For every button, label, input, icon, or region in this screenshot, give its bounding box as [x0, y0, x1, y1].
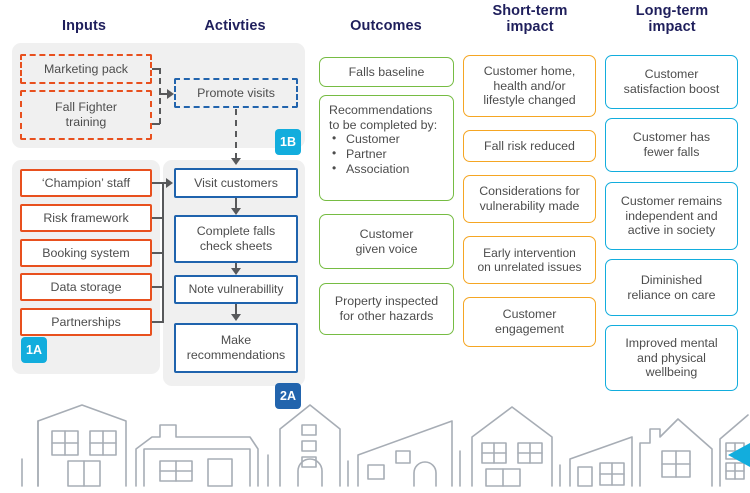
input-booking-system-label: Booking system — [42, 246, 129, 261]
activity-make-recommendations-label-line2: recommendations — [187, 348, 285, 363]
input-risk-framework-label: Risk framework — [43, 211, 128, 226]
activity-note-vulnerability[interactable]: Note vulnerabillity — [174, 275, 298, 304]
long-term-item-0-line1: Customer — [645, 67, 699, 82]
short-term-item-1-line1: Fall risk reduced — [484, 139, 575, 154]
column-header-activities: Activties — [163, 18, 307, 34]
input-data-storage-label: Data storage — [51, 280, 122, 295]
outcome-recommendations-completed-by[interactable]: Recommendations to be completed by: Cust… — [319, 95, 454, 201]
short-term-customer-engagement[interactable]: Customer engagement — [463, 297, 596, 347]
outcome-property-inspected-label-line2: for other hazards — [340, 309, 434, 324]
long-term-item-2-line1: Customer remains — [621, 194, 722, 209]
outcome-property-inspected[interactable]: Property inspected for other hazards — [319, 283, 454, 335]
outcome-property-inspected-label-line1: Property inspected — [335, 294, 438, 309]
input-fall-fighter-training[interactable]: Fall Fighter training — [20, 90, 152, 140]
long-term-item-1-line2: fewer falls — [644, 145, 700, 160]
outcome-falls-baseline[interactable]: Falls baseline — [319, 57, 454, 87]
input-risk-framework[interactable]: Risk framework — [20, 204, 152, 232]
long-term-customer-satisfaction-boost[interactable]: Customer satisfaction boost — [605, 55, 738, 109]
activity-complete-falls-check-sheets[interactable]: Complete falls check sheets — [174, 215, 298, 263]
input-partnerships-label: Partnerships — [51, 315, 121, 330]
arrowhead-complete-to-note — [231, 268, 241, 275]
activity-visit-customers-label: Visit customers — [194, 176, 278, 191]
short-term-item-4-line1: Customer — [503, 307, 557, 322]
logic-model-diagram: Inputs Activties Outcomes Short-term imp… — [0, 0, 750, 493]
outcome-falls-baseline-label: Falls baseline — [349, 65, 425, 80]
long-term-customer-remains-independent[interactable]: Customer remains independent and active … — [605, 182, 738, 250]
badge-1b-label: 1B — [280, 135, 296, 149]
long-term-item-0-line2: satisfaction boost — [624, 82, 720, 97]
activity-promote-visits[interactable]: Promote visits — [174, 78, 298, 108]
connector-inputs-vertical-bus — [162, 182, 164, 323]
long-term-customer-fewer-falls[interactable]: Customer has fewer falls — [605, 118, 738, 172]
column-header-inputs: Inputs — [12, 18, 156, 34]
long-term-item-2-line2: independent and — [625, 209, 717, 224]
connector-dashed-vertical-bus — [159, 68, 161, 124]
outcome-customer-given-voice[interactable]: Customer given voice — [319, 214, 454, 269]
long-term-item-4-line2: and physical — [637, 351, 706, 366]
long-term-item-3-line1: Diminished — [641, 273, 702, 288]
long-term-item-2-line3: active in society — [628, 223, 715, 238]
short-term-header-line1: Short-term — [460, 3, 600, 19]
short-term-early-intervention[interactable]: Early intervention on unrelated issues — [463, 236, 596, 284]
short-term-fall-risk-reduced[interactable]: Fall risk reduced — [463, 130, 596, 162]
outcome-customer-given-voice-label-line2: given voice — [356, 242, 418, 257]
arrowhead-promote-to-visit — [231, 158, 241, 165]
long-term-diminished-reliance-on-care[interactable]: Diminished reliance on care — [605, 259, 738, 316]
input-champion-staff[interactable]: ‘Champion’ staff — [20, 169, 152, 197]
arrowhead-to-promote-visits — [167, 89, 174, 99]
badge-1a-label: 1A — [26, 343, 42, 357]
column-header-long-term-impact: Long-term impact — [602, 3, 742, 35]
long-term-header-line2: impact — [602, 19, 742, 35]
input-fall-fighter-training-label-line1: Fall Fighter — [55, 100, 117, 115]
short-term-item-3-line2: on unrelated issues — [477, 260, 581, 274]
input-marketing-pack[interactable]: Marketing pack — [20, 54, 152, 84]
activity-promote-visits-label: Promote visits — [197, 86, 275, 101]
short-term-item-4-line2: engagement — [495, 322, 564, 337]
activity-make-recommendations[interactable]: Make recommendations — [174, 323, 298, 373]
input-booking-system[interactable]: Booking system — [20, 239, 152, 267]
short-term-considerations-vulnerability[interactable]: Considerations for vulnerability made — [463, 175, 596, 223]
outcome-recommendations-lead-line1: Recommendations — [329, 103, 437, 118]
activity-visit-customers[interactable]: Visit customers — [174, 168, 298, 198]
long-term-header-line1: Long-term — [602, 3, 742, 19]
short-term-item-2-line1: Considerations for — [479, 184, 580, 199]
long-term-item-4-line3: wellbeing — [646, 365, 698, 380]
input-fall-fighter-training-label-line2: training — [66, 115, 107, 130]
house-row-illustration — [0, 393, 750, 493]
arrowhead-note-to-make — [231, 314, 241, 321]
short-term-item-0-line2: health and/or — [493, 79, 565, 94]
short-term-item-0-line1: Customer home, — [484, 64, 576, 79]
arrowhead-visit-to-complete — [231, 208, 241, 215]
short-term-customer-home-health-lifestyle[interactable]: Customer home, health and/or lifestyle c… — [463, 55, 596, 117]
outcome-recommendations-lead-line2: to be completed by: — [329, 118, 437, 133]
short-term-item-3-line1: Early intervention — [483, 246, 576, 260]
badge-1b: 1B — [275, 129, 301, 155]
outcome-customer-given-voice-label-line1: Customer — [360, 227, 414, 242]
input-champion-staff-label: ‘Champion’ staff — [42, 176, 130, 191]
badge-1a: 1A — [21, 337, 47, 363]
outcome-recommendations-list: Customer Partner Association — [329, 132, 437, 176]
input-marketing-pack-label: Marketing pack — [44, 62, 128, 77]
column-header-outcomes: Outcomes — [316, 18, 456, 34]
outcome-recommendations-item-partner: Partner — [329, 147, 437, 162]
input-partnerships[interactable]: Partnerships — [20, 308, 152, 336]
activity-note-vulnerability-label: Note vulnerabillity — [189, 282, 284, 296]
arrowhead-inputs-to-visit-customers — [166, 178, 173, 188]
short-term-item-2-line2: vulnerability made — [480, 199, 580, 214]
short-term-item-0-line3: lifestyle changed — [483, 93, 575, 108]
connector-fall-fighter-horizontal — [152, 123, 160, 125]
activity-complete-falls-check-sheets-label-line2: check sheets — [200, 239, 272, 254]
outcome-recommendations-item-association: Association — [329, 162, 437, 177]
connector-promote-to-visit — [235, 109, 237, 159]
activity-complete-falls-check-sheets-label-line1: Complete falls — [197, 224, 276, 239]
long-term-item-4-line1: Improved mental — [625, 336, 717, 351]
long-term-improved-mental-physical-wellbeing[interactable]: Improved mental and physical wellbeing — [605, 325, 738, 391]
activity-make-recommendations-label-line1: Make — [221, 333, 251, 348]
long-term-item-3-line2: reliance on care — [627, 288, 715, 303]
input-data-storage[interactable]: Data storage — [20, 273, 152, 301]
long-term-item-1-line1: Customer has — [633, 130, 710, 145]
outcome-recommendations-item-customer: Customer — [329, 132, 437, 147]
short-term-header-line2: impact — [460, 19, 600, 35]
column-header-short-term-impact: Short-term impact — [460, 3, 600, 35]
